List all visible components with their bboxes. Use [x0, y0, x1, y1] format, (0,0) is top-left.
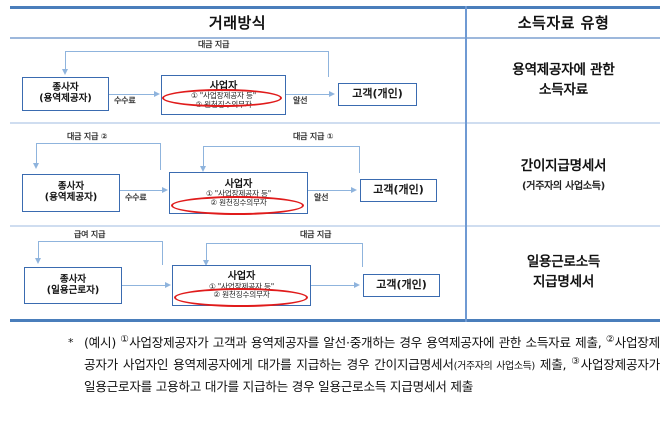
row1-fee-arrowhead [154, 91, 160, 97]
row2-payment-label-right: 대금 지급 ① [293, 131, 333, 142]
row1-business-box: 사업자 ① "사업장제공자 등" ② 원천징수의무자 [161, 75, 286, 115]
income-type-1-line1: 용역제공자에 관한 [512, 61, 614, 81]
row2-payment-label-left: 대금 지급 ② [67, 131, 107, 142]
row3-customer-label: 고객(개인) [376, 279, 427, 291]
row3-payment-label-left: 급여 지급 [74, 229, 105, 240]
income-type-3-line2: 지급명세서 [533, 273, 594, 293]
row2-customer-box: 고객(개인) [360, 179, 437, 202]
row3-worker-to-business-line [122, 285, 166, 286]
footnote-segment-2-end: 제출, [535, 357, 571, 372]
income-type-2-sub: (거주자의 사업소득) [522, 177, 605, 192]
row3-worker-line1: 종사자 [60, 275, 86, 286]
row3-business-to-customer-arrowhead [354, 282, 360, 288]
row3-business-to-customer-line [311, 285, 355, 286]
row2-business-box: 사업자 ① "사업장제공자 등" ② 원천징수의무자 [169, 172, 308, 214]
footnote-mark-2: ② [606, 334, 615, 345]
row1-payment-label: 대금 지급 [198, 39, 229, 50]
income-type-cell-2: 간이지급명세서 (거주자의 사업소득) [467, 124, 660, 225]
row2-payleft-line-v-left [36, 143, 37, 165]
row3-payleft-arrowhead [35, 258, 41, 264]
row1-customer-box: 고객(개인) [338, 83, 417, 106]
diagram-row-2: 대금 지급 ② 대금 지급 ① 종사자 (용역제공자) 수수료 사업자 ① "사… [10, 124, 465, 225]
row2-worker-line2: (용역제공자) [45, 193, 97, 204]
row2-broker-label: 알선 [314, 192, 328, 203]
row3-payment-label-right: 대금 지급 [300, 229, 331, 240]
header-income-data-type: 소득자료 유형 [467, 8, 660, 37]
row3-business-option-2: ② 원천징수의무자 [213, 291, 269, 300]
footnote-prefix: (예시) [84, 335, 120, 350]
row2-fee-arrowhead [162, 187, 168, 193]
row2-payright-line-v-right [359, 146, 360, 173]
row3-payleft-line-v-right [162, 241, 163, 265]
header-transaction-method: 거래방식 [10, 8, 465, 37]
row3-business-box: 사업자 ① "사업장제공자 등" ② 원천징수의무자 [172, 265, 311, 306]
row2-customer-label: 고객(개인) [373, 184, 424, 196]
diagram-row-1: 대금 지급 종사자 (용역제공자) 수수료 사업자 ① "사업장제공자 등" ②… [10, 39, 465, 122]
footnote-mark-1: ① [120, 334, 129, 345]
row1-payment-line-v-right [328, 51, 329, 77]
row3-worker-line2: (일용근로자) [47, 286, 99, 297]
row2-broker-arrowhead [351, 187, 357, 193]
income-type-2-line1: 간이지급명세서 [521, 157, 607, 177]
row3-payright-line-v-right [362, 243, 363, 267]
row2-payright-line-v-left [203, 146, 204, 168]
footnote-segment-1: 사업장제공자가 고객과 용역제공자를 알선·중개하는 경우 용역제공자에 관한 … [129, 335, 606, 350]
row2-fee-label: 수수료 [125, 192, 146, 203]
row2-payleft-line-v-right [160, 143, 161, 170]
row1-fee-label: 수수료 [114, 95, 135, 106]
row3-payright-line-h [206, 243, 363, 244]
row2-payleft-line-h [36, 143, 161, 144]
footnote: * (예시) ①사업장제공자가 고객과 용역제공자를 알선·중개하는 경우 용역… [10, 332, 660, 397]
row3-business-title: 사업자 [228, 271, 256, 282]
row1-broker-label: 알선 [293, 95, 307, 106]
income-type-cell-3: 일용근로소득 지급명세서 [467, 227, 660, 319]
diagram-row-3: 급여 지급 대금 지급 종사자 (일용근로자) 사업자 ① "사업장제공자 등"… [10, 227, 465, 319]
footnote-star: * [68, 334, 74, 353]
row1-broker-arrowhead [329, 91, 335, 97]
row1-payment-arrowhead [62, 69, 68, 75]
row1-worker-box: 종사자 (용역제공자) [22, 77, 109, 111]
row2-worker-box: 종사자 (용역제공자) [22, 174, 120, 212]
row3-payleft-line-h [38, 241, 163, 242]
income-type-3-line1: 일용근로소득 [527, 253, 600, 273]
income-type-cell-1: 용역제공자에 관한 소득자료 [467, 39, 660, 122]
row2-payright-line-h [203, 146, 360, 147]
row1-business-option-2: ② 원천징수의무자 [195, 101, 251, 110]
footnote-text: (예시) ①사업장제공자가 고객과 용역제공자를 알선·중개하는 경우 용역제공… [84, 332, 660, 397]
row2-business-option-2: ② 원천징수의무자 [210, 199, 266, 208]
row1-worker-line2: (용역제공자) [39, 94, 91, 105]
transaction-table: 거래방식 소득자료 유형 대금 지급 종사자 (용역제공자) 수수료 사업자 ①… [10, 6, 660, 321]
row2-payleft-arrowhead [33, 163, 39, 169]
row3-worker-box: 종사자 (일용근로자) [24, 267, 122, 304]
row1-payment-line-v-left [65, 51, 66, 71]
row3-worker-to-business-arrowhead [165, 282, 171, 288]
row1-payment-line-h [65, 51, 329, 52]
table-bottom-rule [10, 319, 660, 322]
footnote-segment-2-small: (거주자의 사업소득) [454, 361, 535, 372]
footnote-mark-3: ③ [571, 356, 580, 367]
row3-customer-box: 고객(개인) [363, 274, 440, 297]
income-type-1-line2: 소득자료 [539, 81, 588, 101]
row1-customer-label: 고객(개인) [352, 88, 403, 100]
